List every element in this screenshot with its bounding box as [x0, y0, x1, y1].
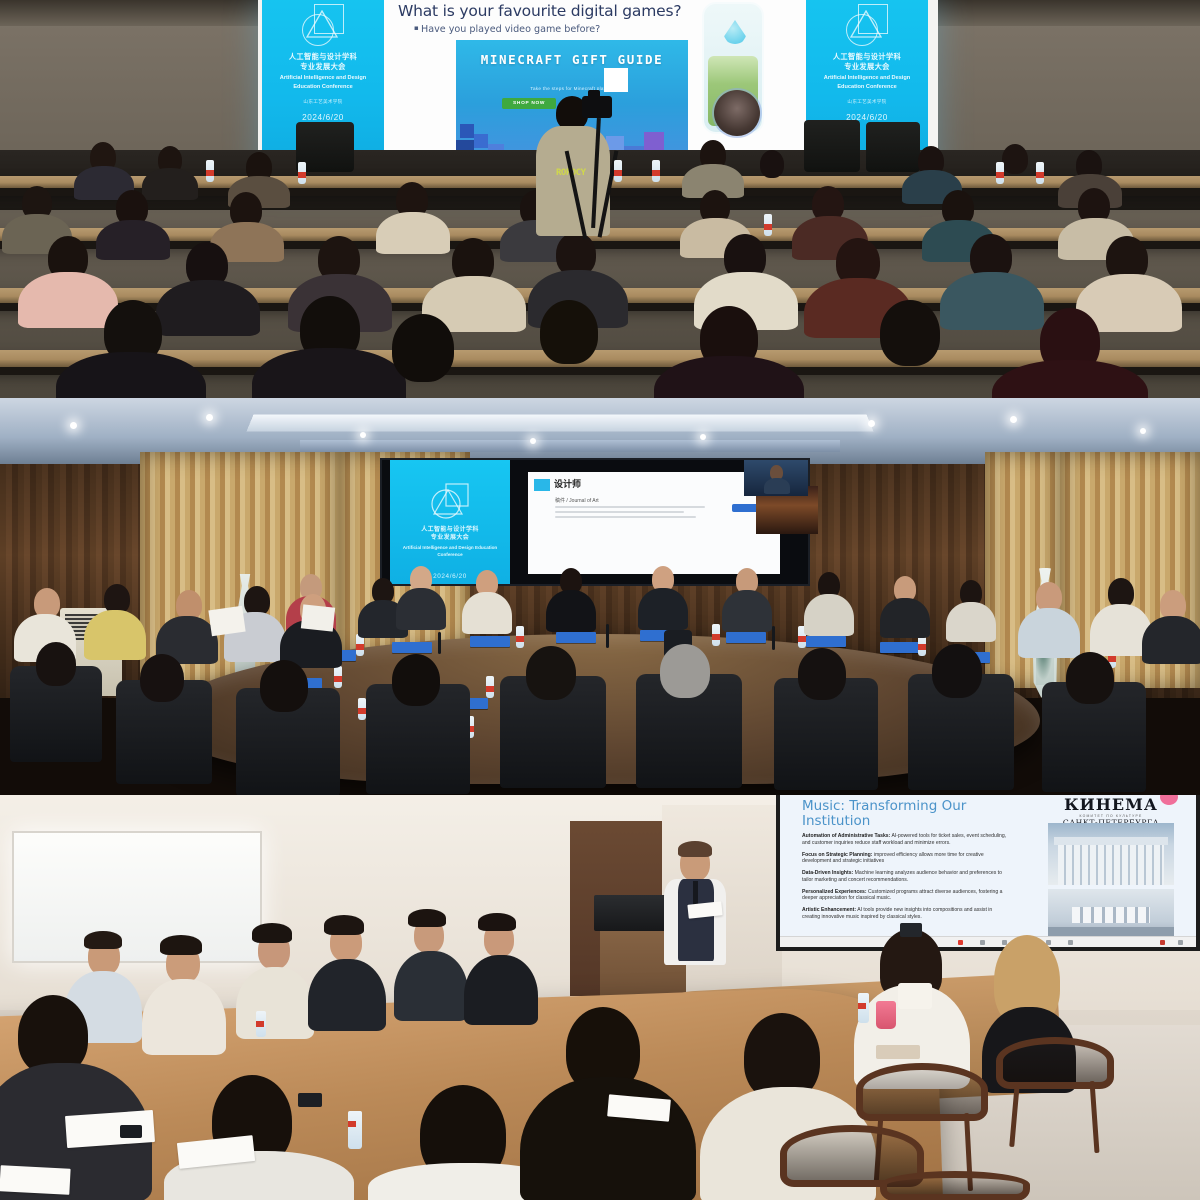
smartphone[interactable] — [298, 1093, 322, 1107]
banner-logo-mark — [430, 482, 470, 522]
slide-bullet: Have you played video game before? — [414, 24, 600, 35]
smartphone-raised[interactable] — [900, 923, 922, 937]
water-bottle — [1036, 162, 1044, 184]
ceiling-light — [206, 414, 213, 421]
ceiling-panel — [246, 415, 873, 432]
taskbar-icon-recording[interactable] — [958, 940, 963, 945]
handbag — [876, 1045, 920, 1059]
doc-body-lines — [555, 506, 705, 521]
logo-triangle-icon — [306, 10, 338, 38]
banner-title-cn-2: 专业发展大会 — [300, 62, 346, 72]
water-bottle — [486, 676, 494, 698]
speaker-hair — [678, 841, 712, 857]
water-bottle — [996, 162, 1004, 184]
banner-date: 2024/6/20 — [302, 113, 344, 122]
minecraft-shop-now-button[interactable]: SHOP NOW — [502, 98, 556, 109]
water-drop-icon — [724, 20, 746, 44]
table-microphone — [438, 632, 441, 654]
ceiling-light — [1010, 416, 1017, 423]
display-taskbar[interactable] — [780, 936, 1200, 947]
window-frame — [12, 831, 262, 963]
name-placard — [726, 632, 766, 643]
taskbar-icon-alert[interactable] — [1160, 940, 1165, 945]
ceiling-light — [868, 420, 875, 427]
slide-bullet-list: Automation of Administrative Tasks: AI-p… — [802, 833, 1010, 926]
conference-banner-slide: 人工智能与设计学科 专业发展大会 Artificial Intelligence… — [390, 460, 510, 584]
wooden-chair[interactable] — [880, 1171, 1030, 1200]
ceiling-light — [700, 434, 706, 440]
minecraft-card-title: MINECRAFT GIFT GUIDE — [456, 52, 688, 68]
shared-document-window: 设计师 稿件 / Journal of Art — [528, 472, 780, 574]
photo-collage: 人工智能与设计学科 专业发展大会 Artificial Intelligence… — [0, 0, 1200, 1200]
water-bottle — [298, 162, 306, 184]
name-placard — [470, 636, 510, 647]
banner-title-cn-2-right: 专业发展大会 — [844, 62, 890, 72]
minecraft-card-subtitle: Take the steps for Minecraft players — [456, 86, 688, 91]
paper-handout — [301, 604, 335, 631]
doc-subtitle: 稿件 / Journal of Art — [555, 497, 599, 504]
conference-logo-mark-right — [844, 2, 890, 48]
p2-banner-date: 2024/6/20 — [433, 573, 467, 580]
taskbar-icon-wifi[interactable] — [1178, 940, 1183, 945]
banner-title-en-right: Artificial Intelligence and Design Educa… — [815, 74, 919, 90]
water-bottle — [256, 1011, 266, 1037]
bullet-lead: Focus on Strategic Planning: — [802, 852, 872, 858]
wooden-chair[interactable] — [996, 1037, 1114, 1089]
concert-hall-interior-image — [1048, 889, 1174, 943]
p2-banner-cn-1: 人工智能与设计学科 — [421, 526, 479, 534]
ceiling-light — [530, 438, 536, 444]
p2-banner-en: Artificial Intelligence and Design Educa… — [402, 545, 498, 558]
bullet-lead: Data-Driven Insights: — [802, 870, 853, 876]
table-microphone — [772, 626, 775, 650]
slide-title: What is your favourite digital games? — [398, 2, 681, 20]
stage-chair — [866, 122, 920, 172]
collage-panel-lecture-hall: 人工智能与设计学科 专业发展大会 Artificial Intelligence… — [0, 0, 1200, 398]
banner-title-en: Artificial Intelligence and Design Educa… — [271, 74, 375, 90]
water-bottle — [652, 160, 660, 182]
logo-triangle-icon-right — [850, 10, 882, 38]
name-placard — [556, 632, 596, 643]
water-bottle — [516, 626, 524, 648]
theatre-facade-image — [1048, 823, 1174, 885]
name-placard — [880, 642, 920, 653]
wall-mounted-display: Music: Transforming Our Institution Auto… — [776, 795, 1200, 951]
paper-sheet — [0, 1165, 71, 1195]
collage-panel-round-table: 人工智能与设计学科 专业发展大会 Artificial Intelligence… — [0, 398, 1200, 795]
ceiling-light — [1140, 428, 1146, 434]
name-placard — [806, 636, 846, 647]
slide-bullet: Automation of Administrative Tasks: AI-p… — [802, 833, 1010, 846]
bullet-lead: Automation of Administrative Tasks: — [802, 833, 890, 839]
conference-logo-mark — [300, 2, 346, 48]
bullet-lead: Artistic Enhancement: — [802, 907, 856, 913]
tissue-box — [898, 983, 932, 1009]
slide-bullet: Data-Driven Insights: Machine learning a… — [802, 870, 1010, 883]
doc-accent-tag — [534, 479, 550, 491]
slide-bullet: Artistic Enhancement: AI tools provide n… — [802, 907, 1010, 920]
logo-wordmark: КИНЕМА — [1048, 797, 1174, 813]
minecraft-white-block — [604, 68, 628, 92]
name-placard — [392, 642, 432, 653]
taskbar-icon[interactable] — [980, 940, 985, 945]
ceiling-panel-inner — [300, 440, 840, 452]
banner-title-cn-1-right: 人工智能与设计学科 — [833, 52, 901, 62]
water-bottle — [712, 624, 720, 646]
ceiling-light — [360, 432, 366, 438]
video-participant-tile — [744, 460, 808, 496]
water-bottle — [348, 1111, 362, 1149]
water-bottle — [764, 214, 772, 236]
p2-banner-cn-2: 专业发展大会 — [431, 534, 469, 542]
smartphone[interactable] — [120, 1125, 142, 1138]
water-bottle — [614, 160, 622, 182]
doc-title: 设计师 — [554, 477, 581, 490]
banner-title-cn-1: 人工智能与设计学科 — [289, 52, 357, 62]
slide-bullet: Personalized Experiences: Customized pro… — [802, 889, 1010, 902]
water-bottle — [206, 160, 214, 182]
slide-bullet: Focus on Strategic Planning: improved ef… — [802, 852, 1010, 865]
presenter-avatar — [714, 90, 760, 136]
ceiling-light — [70, 422, 77, 429]
taskbar-icon[interactable] — [1068, 940, 1073, 945]
table-microphone — [606, 624, 609, 648]
pink-cup — [876, 1001, 896, 1029]
wooden-chair[interactable] — [856, 1063, 988, 1121]
water-bottle — [358, 698, 366, 720]
banner-university: 山东工艺美术学院 — [303, 99, 342, 105]
banner-university-right: 山东工艺美术学院 — [847, 99, 886, 105]
stage-chair — [804, 120, 860, 172]
bullet-lead: Personalized Experiences: — [802, 889, 867, 895]
slide-title: Music: Transforming Our Institution — [802, 799, 1032, 829]
paper-handout — [208, 606, 245, 636]
water-bottle — [858, 993, 869, 1023]
laptop — [594, 895, 672, 931]
water-bottle — [334, 666, 342, 688]
collage-panel-seminar-room: Music: Transforming Our Institution Auto… — [0, 795, 1200, 1200]
doc-action-button[interactable] — [732, 504, 758, 512]
